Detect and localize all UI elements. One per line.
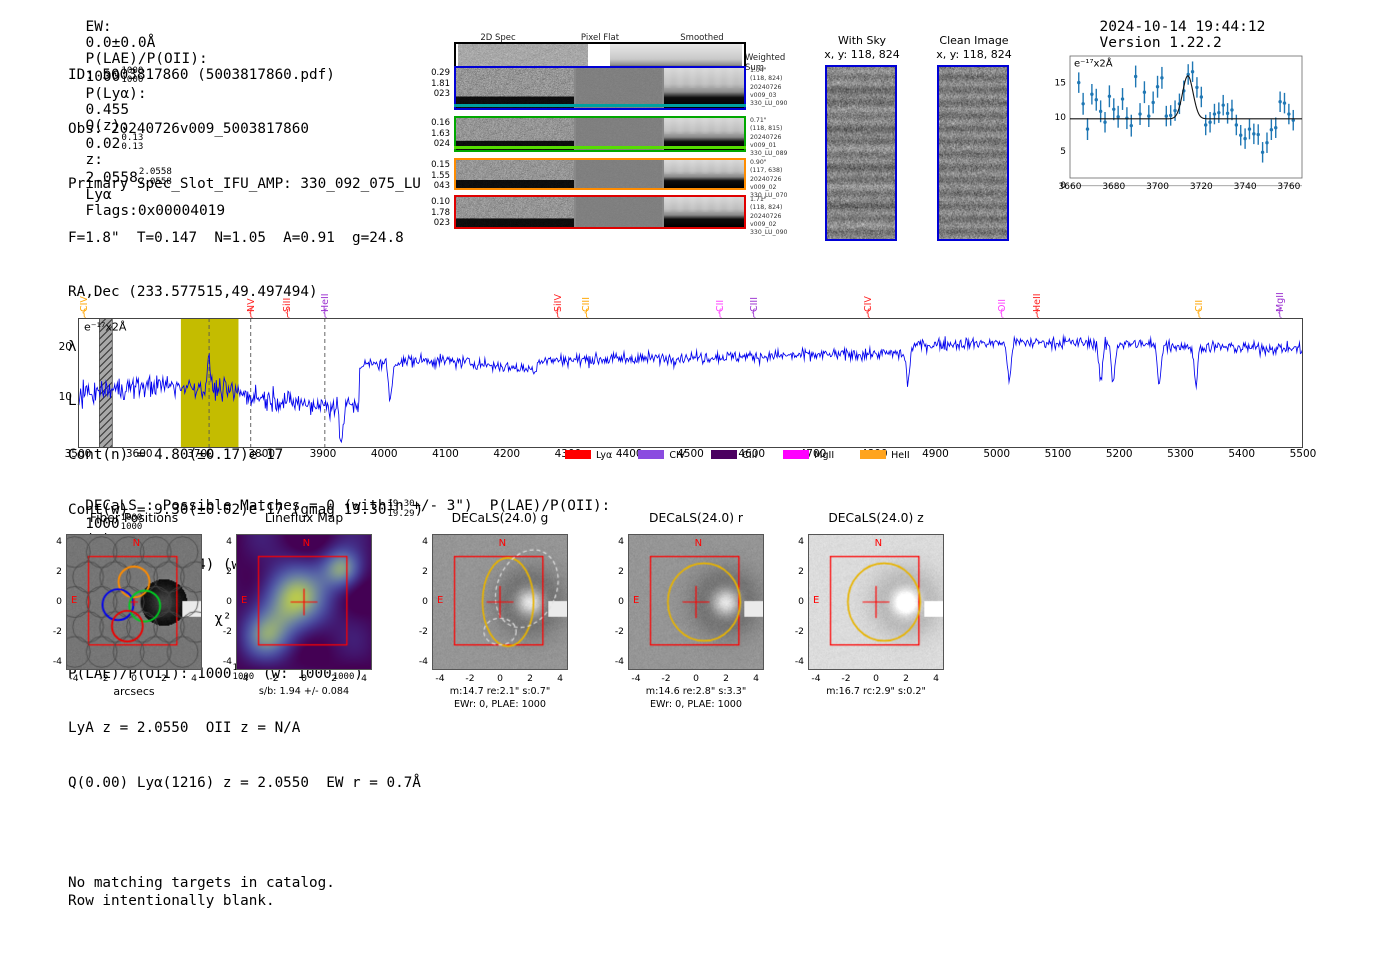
- spec-row-pixelflat: [576, 197, 662, 227]
- panel-xtick: 4: [926, 673, 946, 684]
- spectrum-xtick: 3600: [117, 448, 161, 460]
- panel-xtick: -4: [806, 673, 826, 684]
- panel-xtick: 2: [154, 673, 174, 684]
- info-q-line: Q(0.00) Lyα(1216) z = 2.0550 EW r = 0.7Å: [68, 774, 423, 792]
- spectrum-xtick: 5300: [1159, 448, 1203, 460]
- emission-line-marker: {: [248, 308, 254, 319]
- cutout-group: With Sky x, y: 118, 824 Clean Image x, y…: [812, 34, 1024, 249]
- panel-ytick: 2: [788, 566, 804, 577]
- version-label: Version 1.22.2: [1099, 35, 1221, 51]
- panel-xtick: 0: [866, 673, 886, 684]
- spec-row-2dspec: [456, 68, 574, 108]
- panel-xtick: -2: [460, 673, 480, 684]
- legend-swatch: [638, 450, 664, 459]
- spec-row-meta: 1.71"(118, 824)20240726v009_02330_LU_090: [750, 196, 810, 237]
- emission-line-marker: {: [1196, 308, 1202, 319]
- panel-canvas: [67, 535, 201, 669]
- spectrum-xtick: 5100: [1036, 448, 1080, 460]
- panel-xlabel: arcsecs: [66, 686, 202, 699]
- emission-line-marker: {: [717, 308, 723, 319]
- spec-row-meta: 0.90"(117, 638)20240726v009_02330_LU_070: [750, 159, 810, 200]
- full-spectrum-chart: CIV{NV{SiII{HeII{SiIV{CIII{CII{CIII{CIV{…: [78, 318, 1303, 448]
- spectrum-xtick: 4100: [424, 448, 468, 460]
- panel-title-2: DECaLS(24.0) g: [410, 511, 590, 525]
- emission-line-marker: {: [583, 308, 589, 319]
- spec-row-smoothed: [664, 68, 744, 108]
- panel-ytick: 2: [608, 566, 624, 577]
- emission-line-label: CII: [1194, 268, 1205, 312]
- emission-line-label: CII: [715, 268, 726, 312]
- panel-ytick: 4: [608, 536, 624, 547]
- footer-line-2: Row intentionally blank.: [68, 892, 335, 910]
- panel-ytick: -4: [608, 656, 624, 667]
- emission-line-marker: {: [751, 308, 757, 319]
- spec-row-smoothed: [664, 197, 744, 227]
- panel-ytick: 0: [216, 596, 232, 607]
- panel-xtick: -2: [94, 673, 114, 684]
- panel-canvas: [809, 535, 943, 669]
- spectrum-xtick: 3700: [179, 448, 223, 460]
- spectrum-xtick: 5400: [1220, 448, 1264, 460]
- legend-label: MgII: [814, 450, 834, 461]
- footer-line-1: No matching targets in catalog.: [68, 874, 335, 892]
- legend-item: CIII: [711, 450, 757, 461]
- spec-row-3: [454, 158, 746, 190]
- emission-line-label: CIII: [749, 268, 760, 312]
- spec-row-meta: 1.04"(118, 824)20240726v009_03330_LU_090: [750, 67, 810, 108]
- emission-line-label: NV: [246, 268, 257, 312]
- spec-row-divider-1: [454, 104, 746, 107]
- panel-ytick: -4: [216, 656, 232, 667]
- spectrum-xtick: 5500: [1281, 448, 1325, 460]
- spec-row-smoothed: [664, 160, 744, 188]
- spec-row-stats: 0.151.55043: [402, 160, 450, 192]
- emission-line-marker: {: [284, 308, 290, 319]
- emission-line-label: SiII: [282, 268, 293, 312]
- with-sky-image: [825, 65, 897, 241]
- emission-line-marker: {: [865, 308, 871, 319]
- emission-line-marker: {: [555, 308, 561, 319]
- legend-item: MgII: [783, 450, 834, 461]
- emission-line-label: CIV: [863, 268, 874, 312]
- panel-title-4: DECaLS(24.0) z: [786, 511, 966, 525]
- spec-row-stats: 0.161.63024: [402, 118, 450, 150]
- full-spectrum-canvas: [78, 318, 1303, 448]
- panel-ytick: 2: [216, 566, 232, 577]
- panel-xtick: -4: [234, 673, 254, 684]
- compass-north: N: [875, 538, 882, 549]
- info-primary-spec: Primary Spec_Slot_IFU_AMP: 330_092_075_L…: [68, 175, 423, 193]
- spectrum-legend: LyαCIVCIIIMgIIHeII: [565, 450, 936, 461]
- clean-image-coords: x, y: 118, 824: [924, 48, 1024, 61]
- header-version-block: 2024-10-14 19:44:12 Version 1.22.2: [1082, 3, 1283, 51]
- panel-xtick: 4: [746, 673, 766, 684]
- panel-ytick: -4: [788, 656, 804, 667]
- panel-ytick: 0: [46, 596, 62, 607]
- info-redshifts: LyA z = 2.0550 OII z = N/A: [68, 719, 423, 737]
- panel-xtick: -2: [264, 673, 284, 684]
- spec-row-meta: 0.71"(118, 815)20240726v009_01330_LU_089: [750, 117, 810, 158]
- panel-caption-2: EWr: 0, PLAE: 1000: [602, 699, 790, 712]
- legend-label: CIV: [669, 450, 685, 461]
- timestamp: 2024-10-14 19:44:12: [1099, 19, 1265, 35]
- panel-xtick: 4: [550, 673, 570, 684]
- spectrum-xtick: 5200: [1097, 448, 1141, 460]
- legend-swatch: [860, 450, 886, 459]
- emission-line-label: OII: [997, 268, 1008, 312]
- spec-row-4: [454, 195, 746, 229]
- info-seeing: F=1.8" T=0.147 N=1.05 A=0.91 g=24.8: [68, 229, 423, 247]
- panel-xtick: 0: [686, 673, 706, 684]
- emission-line-label: CIV: [79, 268, 90, 312]
- spec-row-2dspec: [456, 160, 574, 188]
- panel-ytick: -2: [46, 626, 62, 637]
- spectrum-xtick: 5000: [975, 448, 1019, 460]
- panel-title-0: Fiber Positions: [44, 511, 224, 525]
- panel-ytick: 2: [412, 566, 428, 577]
- emission-line-marker: {: [1034, 308, 1040, 319]
- legend-swatch: [565, 450, 591, 459]
- compass-east: E: [437, 595, 443, 606]
- panel-xtick: -4: [64, 673, 84, 684]
- panel-image-3[interactable]: [628, 534, 764, 670]
- panel-canvas: [433, 535, 567, 669]
- info-id: ID: 5003817860 (5003817860.pdf): [68, 66, 423, 84]
- panel-ytick: 0: [412, 596, 428, 607]
- panel-xtick: 4: [354, 673, 374, 684]
- panel-ytick: 0: [608, 596, 624, 607]
- panel-ytick: -2: [608, 626, 624, 637]
- emission-line-marker: {: [81, 308, 87, 319]
- emission-line-label: HeII: [1032, 268, 1043, 312]
- panel-image-1[interactable]: [236, 534, 372, 670]
- panel-title-3: DECaLS(24.0) r: [606, 511, 786, 525]
- panel-caption: m:16.7 rc:2.9" s:0.2": [782, 686, 970, 699]
- emission-line-marker: {: [1277, 308, 1283, 319]
- clean-image-title: Clean Image: [924, 34, 1024, 47]
- legend-label: HeII: [891, 450, 910, 461]
- panel-xtick: 2: [896, 673, 916, 684]
- emission-line-marker: {: [999, 308, 1005, 319]
- legend-swatch: [783, 450, 809, 459]
- panel-image-2[interactable]: [432, 534, 568, 670]
- panel-caption-2: EWr: 0, PLAE: 1000: [406, 699, 594, 712]
- panel-xtick: -4: [626, 673, 646, 684]
- panel-xtick: 2: [716, 673, 736, 684]
- panel-caption: m:14.7 re:2.1" s:0.7": [406, 686, 594, 699]
- compass-north: N: [695, 538, 702, 549]
- clean-image: [937, 65, 1009, 241]
- emission-line-fit-chart: [1036, 50, 1308, 222]
- panel-canvas: [629, 535, 763, 669]
- spectrum-xtick: 3500: [56, 448, 100, 460]
- panel-xtick: 0: [490, 673, 510, 684]
- panel-xtick: -2: [656, 673, 676, 684]
- footer-note: No matching targets in catalog. Row inte…: [68, 874, 335, 910]
- legend-item: CIV: [638, 450, 685, 461]
- spec-row-pixelflat: [576, 68, 662, 108]
- panel-ytick: 2: [46, 566, 62, 577]
- panel-xtick: 0: [294, 673, 314, 684]
- legend-label: CIII: [742, 450, 757, 461]
- full-spectrum-yaxis: 1020: [48, 318, 74, 448]
- panel-ytick: -4: [46, 656, 62, 667]
- panel-xtick: 2: [324, 673, 344, 684]
- panel-xtick: 2: [520, 673, 540, 684]
- panel-xtick: 0: [124, 673, 144, 684]
- legend-swatch: [711, 450, 737, 459]
- spectrum-xtick: 3900: [301, 448, 345, 460]
- panel-xtick: -2: [836, 673, 856, 684]
- legend-item: HeII: [860, 450, 910, 461]
- compass-north: N: [303, 538, 310, 549]
- spec-row-stats: 0.291.81023: [402, 68, 450, 100]
- with-sky-coords: x, y: 118, 824: [812, 48, 912, 61]
- legend-label: Lyα: [596, 450, 612, 461]
- panel-xtick: -4: [430, 673, 450, 684]
- panel-ytick: -4: [412, 656, 428, 667]
- emission-line-label: MgII: [1275, 268, 1286, 312]
- compass-east: E: [633, 595, 639, 606]
- spec-row-stats: 0.101.78023: [402, 197, 450, 229]
- panel-ytick: 4: [788, 536, 804, 547]
- compass-east: E: [813, 595, 819, 606]
- panel-caption: m:14.6 re:2.8" s:3.3": [602, 686, 790, 699]
- legend-item: Lyα: [565, 450, 612, 461]
- panel-ytick: 4: [46, 536, 62, 547]
- panel-ytick: -2: [788, 626, 804, 637]
- emission-line-marker: {: [322, 308, 328, 319]
- compass-east: E: [241, 595, 247, 606]
- spectrum-xtick: 3800: [240, 448, 284, 460]
- compass-north: N: [499, 538, 506, 549]
- panel-image-4[interactable]: [808, 534, 944, 670]
- emission-line-label: HeII: [320, 268, 331, 312]
- panel-canvas: [237, 535, 371, 669]
- panel-ytick: -2: [216, 626, 232, 637]
- spectrum-xtick: 4000: [362, 448, 406, 460]
- spec-row-divider-2: [454, 146, 746, 149]
- spectrum-ytick: 20: [59, 341, 72, 353]
- emission-line-label: CIII: [581, 268, 592, 312]
- panel-ytick: 4: [216, 536, 232, 547]
- panel-ytick: 4: [412, 536, 428, 547]
- panel-title-1: Lineflux Map: [214, 511, 394, 525]
- spectrum-ytick: 10: [59, 391, 72, 403]
- spectrum-xtick: 4200: [485, 448, 529, 460]
- compass-east: E: [71, 595, 77, 606]
- panel-image-0[interactable]: [66, 534, 202, 670]
- panel-ytick: 0: [788, 596, 804, 607]
- panel-xtick: 4: [184, 673, 204, 684]
- info-obs: Obs: 20240726v009_5003817860: [68, 120, 423, 138]
- with-sky-title: With Sky: [812, 34, 912, 47]
- spec-row-pixelflat: [576, 160, 662, 188]
- spec-row-2dspec: [456, 197, 574, 227]
- panel-caption: s/b: 1.94 +/- 0.084: [210, 686, 398, 699]
- panel-ytick: -2: [412, 626, 428, 637]
- emission-line-label: SiIV: [553, 268, 564, 312]
- twod-spec-panel-group: 2D Spec Pixel Flat Smoothed WeightedSum …: [430, 33, 780, 253]
- compass-north: N: [133, 538, 140, 549]
